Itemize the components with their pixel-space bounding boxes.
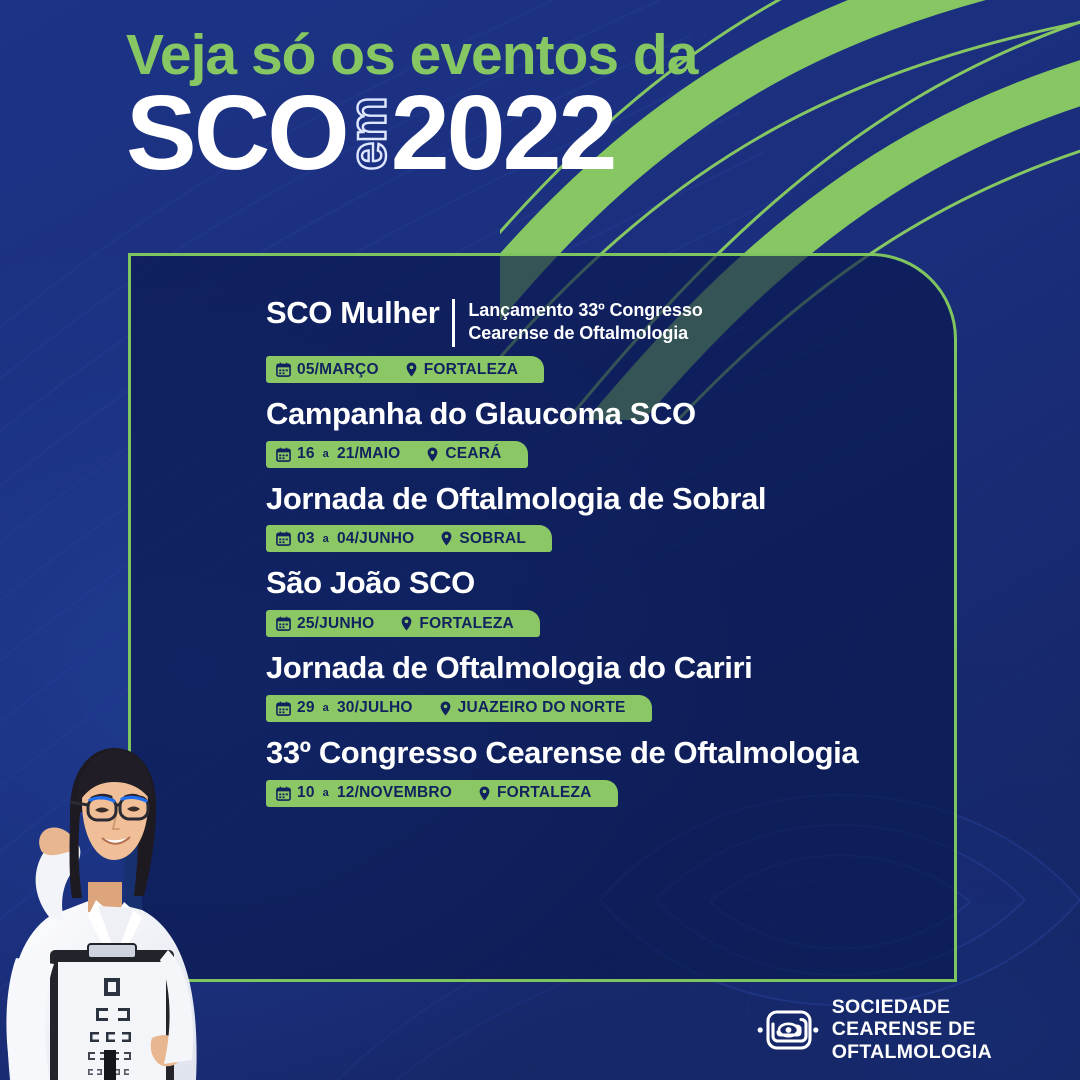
- event-title: 33º Congresso Cearense de Oftalmologia: [266, 736, 858, 771]
- calendar-icon: [276, 616, 291, 631]
- event-date: 03: [297, 530, 315, 548]
- event-date-end: 21/MAIO: [337, 445, 400, 463]
- event-title: Jornada de Oftalmologia do Cariri: [266, 651, 752, 686]
- event-item[interactable]: Jornada de Oftalmologia do Cariri 29 a 3…: [266, 651, 966, 722]
- event-badge: 05/MARÇO FORTALEZA: [266, 356, 544, 383]
- sco-eye-logo-icon: [757, 999, 819, 1061]
- event-location: FORTALEZA: [497, 784, 592, 802]
- event-badge: 29 a 30/JULHO JUAZEIRO DO NORTE: [266, 695, 652, 722]
- event-divider: [452, 299, 455, 347]
- event-date-separator: a: [323, 533, 329, 545]
- event-date: 10: [297, 784, 315, 802]
- event-location: FORTALEZA: [419, 615, 514, 633]
- event-header: Jornada de Oftalmologia do Cariri: [266, 651, 966, 686]
- event-subtitle: Lançamento 33º Congresso Cearense de Oft…: [468, 296, 702, 344]
- map-pin-icon: [426, 447, 439, 462]
- event-date-separator: a: [323, 787, 329, 799]
- event-item[interactable]: São João SCO 25/JUNHO FORTALEZA: [266, 566, 966, 637]
- headline-block: Veja só os eventos da SCO em 2022: [126, 26, 906, 186]
- event-location: SOBRAL: [459, 530, 526, 548]
- event-header: São João SCO: [266, 566, 966, 601]
- poster-canvas: Veja só os eventos da SCO em 2022 SCO Mu…: [0, 0, 1080, 1080]
- calendar-icon: [276, 701, 291, 716]
- event-date: 25/JUNHO: [297, 615, 374, 633]
- map-pin-icon: [405, 362, 418, 377]
- event-header: Campanha do Glaucoma SCO: [266, 397, 966, 432]
- event-badge: 25/JUNHO FORTALEZA: [266, 610, 540, 637]
- event-title: SCO Mulher: [266, 296, 439, 331]
- event-date-separator: a: [323, 448, 329, 460]
- map-pin-icon: [478, 786, 491, 801]
- event-location: JUAZEIRO DO NORTE: [458, 699, 626, 717]
- logo-line3: OFTALMOLOGIA: [832, 1041, 992, 1064]
- event-item[interactable]: 33º Congresso Cearense de Oftalmologia 1…: [266, 736, 966, 807]
- map-pin-icon: [400, 616, 413, 631]
- event-location: FORTALEZA: [424, 361, 519, 379]
- logo-text: SOCIEDADE CEARENSE DE OFTALMOLOGIA: [832, 996, 992, 1064]
- headline-connector: em: [343, 97, 395, 170]
- map-pin-icon: [439, 701, 452, 716]
- calendar-icon: [276, 531, 291, 546]
- calendar-icon: [276, 362, 291, 377]
- logo-line2: CEARENSE DE: [832, 1018, 992, 1041]
- event-subtitle-line1: Lançamento 33º Congresso: [468, 300, 702, 320]
- event-badge: 03 a 04/JUNHO SOBRAL: [266, 525, 552, 552]
- map-pin-icon: [440, 531, 453, 546]
- doctor-photo: [0, 720, 237, 1080]
- event-item[interactable]: Jornada de Oftalmologia de Sobral 03 a 0…: [266, 482, 966, 553]
- events-list: SCO Mulher Lançamento 33º Congresso Cear…: [266, 296, 966, 821]
- calendar-icon: [276, 447, 291, 462]
- event-title: São João SCO: [266, 566, 475, 601]
- event-header: 33º Congresso Cearense de Oftalmologia: [266, 736, 966, 771]
- event-date: 29: [297, 699, 315, 717]
- headline-year: 2022: [391, 80, 615, 186]
- event-badge: 16 a 21/MAIO CEARÁ: [266, 441, 528, 468]
- logo-line1: SOCIEDADE: [832, 996, 992, 1019]
- event-date-end: 12/NOVEMBRO: [337, 784, 452, 802]
- event-item[interactable]: Campanha do Glaucoma SCO 16 a 21/MAIO CE…: [266, 397, 966, 468]
- sco-logo: SOCIEDADE CEARENSE DE OFTALMOLOGIA: [757, 996, 992, 1064]
- event-title: Jornada de Oftalmologia de Sobral: [266, 482, 766, 517]
- event-date-separator: a: [323, 702, 329, 714]
- event-subtitle-line2: Cearense de Oftalmologia: [468, 323, 688, 343]
- headline-brand: SCO: [126, 80, 347, 186]
- event-date-end: 04/JUNHO: [337, 530, 414, 548]
- event-item[interactable]: SCO Mulher Lançamento 33º Congresso Cear…: [266, 296, 966, 383]
- event-location: CEARÁ: [445, 445, 501, 463]
- event-date: 05/MARÇO: [297, 361, 379, 379]
- event-header: Jornada de Oftalmologia de Sobral: [266, 482, 966, 517]
- event-date-end: 30/JULHO: [337, 699, 413, 717]
- event-badge: 10 a 12/NOVEMBRO FORTALEZA: [266, 780, 618, 807]
- calendar-icon: [276, 786, 291, 801]
- event-header: SCO Mulher Lançamento 33º Congresso Cear…: [266, 296, 966, 347]
- event-date: 16: [297, 445, 315, 463]
- headline-main-row: SCO em 2022: [126, 82, 906, 186]
- headline-connector-wrap: em: [347, 82, 391, 186]
- event-title: Campanha do Glaucoma SCO: [266, 397, 696, 432]
